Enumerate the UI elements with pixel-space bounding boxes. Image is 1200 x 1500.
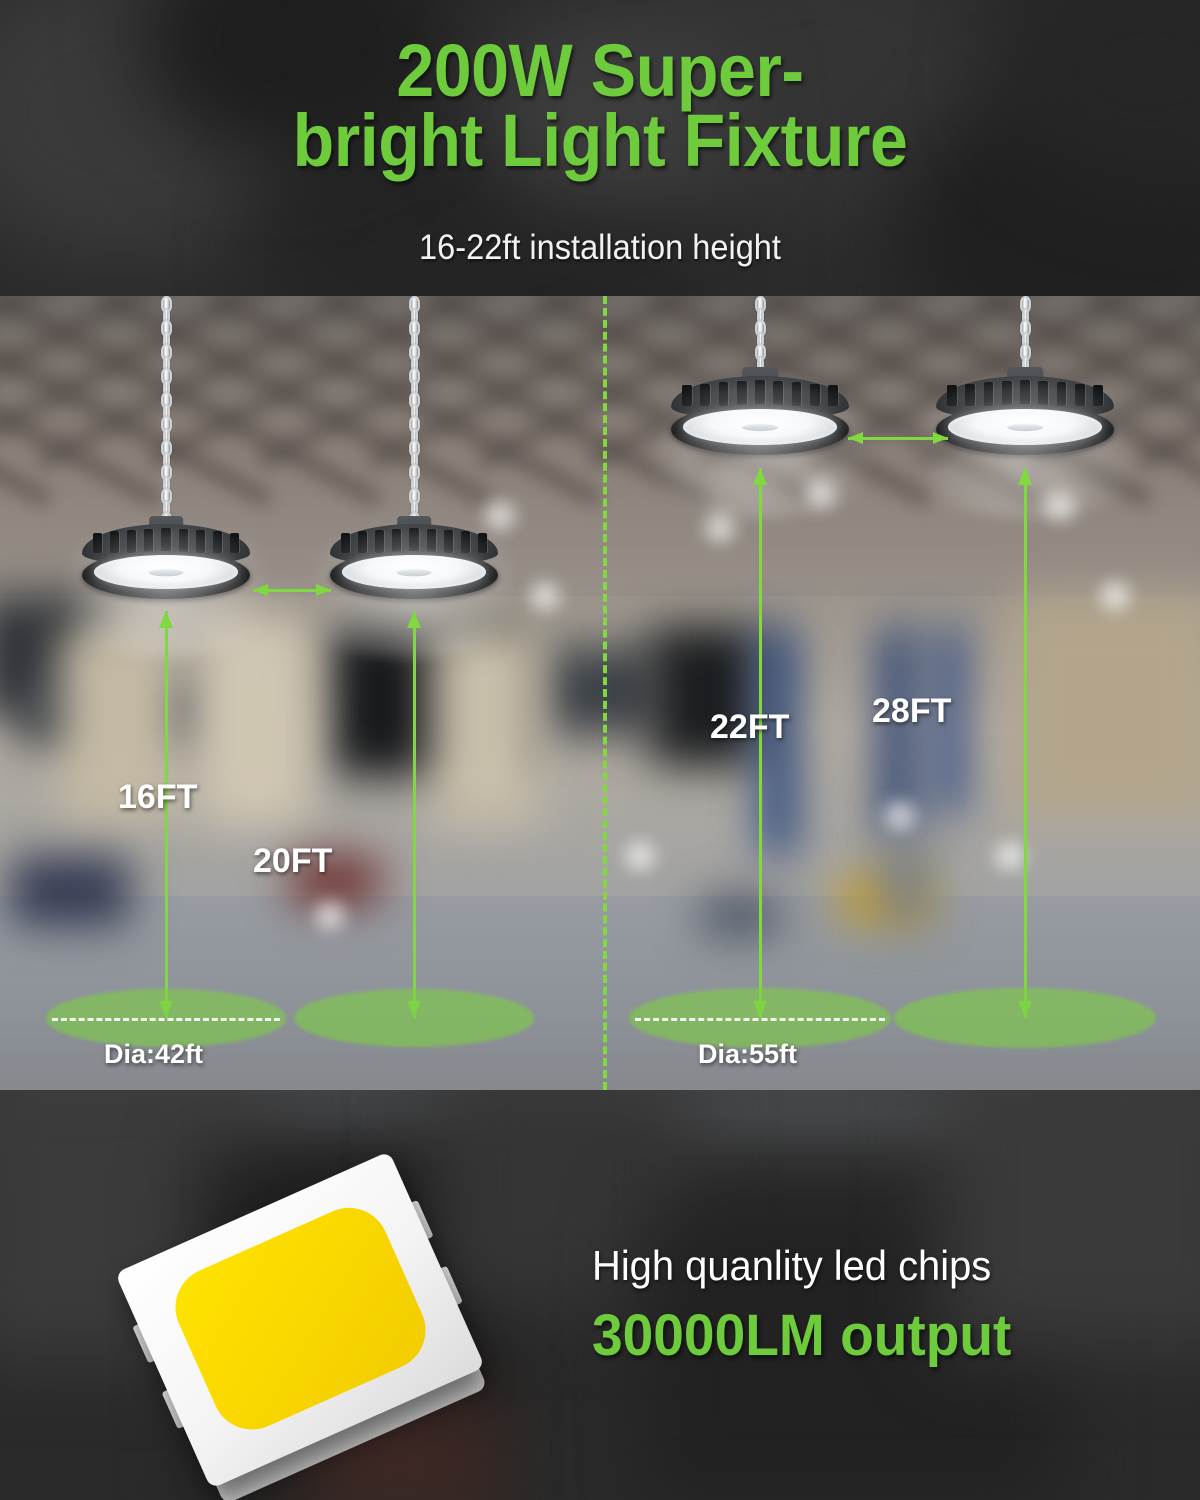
bottom-output-value: 30000LM output <box>592 1302 1011 1369</box>
hanging-chain <box>409 296 420 524</box>
heatsink-fin <box>358 531 367 552</box>
heatsink-fin <box>719 382 729 406</box>
label-right-height: 22FT <box>710 708 789 747</box>
arrow-shaft <box>1024 468 1027 1018</box>
diameter-dashed-line <box>635 1018 885 1021</box>
arrow-head-right <box>316 584 331 596</box>
heatsink-fin <box>792 382 802 406</box>
led-high-bay-fixture <box>82 524 250 625</box>
arrow-head-left <box>253 584 268 596</box>
background-object <box>540 646 660 736</box>
label-right-spacing: 28FT <box>872 692 951 731</box>
panel-divider <box>603 296 607 1090</box>
heatsink-fin <box>700 384 710 407</box>
arrow-head-right <box>933 432 948 444</box>
led-high-bay-fixture <box>330 524 498 625</box>
background-object <box>200 616 310 826</box>
heatsink-fin <box>461 531 470 552</box>
heatsink-fin <box>161 528 170 554</box>
fixture-lens <box>94 555 238 589</box>
heatsink-fin <box>682 385 692 406</box>
heatsink-fin <box>810 384 820 407</box>
background-object <box>880 626 914 836</box>
heatsink-fin <box>444 530 453 553</box>
heatsink-fin <box>755 380 765 407</box>
heatsink-fin <box>110 531 119 552</box>
background-object <box>10 856 130 926</box>
heatsink-fin <box>409 528 418 554</box>
arrow-shaft <box>413 611 416 1018</box>
installation-height-diagram: 20FT 16FT Dia:42ft 28FT 22FT Dia:55ft <box>0 296 1200 1090</box>
arrow-head-up <box>159 611 173 628</box>
label-left-diameter: Dia:42ft <box>104 1039 203 1070</box>
heatsink-fin <box>984 382 994 406</box>
light-pool <box>294 989 534 1047</box>
hanging-chain <box>161 296 172 524</box>
arrow-head-up <box>753 468 767 485</box>
heatsink-fin <box>1057 382 1067 406</box>
heatsink-fin <box>196 530 205 553</box>
fixture-lens <box>683 409 836 445</box>
arrow-head-up <box>407 611 421 628</box>
label-left-spacing: 20FT <box>253 842 332 881</box>
arrow-head-left <box>848 432 863 444</box>
heatsink-fin <box>127 530 136 553</box>
heatsink-fin <box>341 533 350 553</box>
led-chip-section: High quanlity led chips 30000LM output <box>0 1090 1200 1500</box>
fixture-lens <box>948 409 1101 445</box>
label-left-height: 16FT <box>118 778 197 817</box>
heatsink-fin <box>737 381 747 407</box>
heatsink-fin <box>965 384 975 407</box>
background-object <box>1010 596 1200 816</box>
page-subtitle: 16-22ft installation height <box>42 228 1158 268</box>
arrow-head-up <box>1018 468 1032 485</box>
header-banner: 200W Super- bright Light Fixture 16-22ft… <box>0 0 1200 296</box>
background-object <box>700 896 780 936</box>
led-high-bay-fixture <box>671 376 849 483</box>
heatsink-fin <box>427 529 436 553</box>
background-object <box>430 626 540 826</box>
heatsink-fin <box>1093 385 1103 406</box>
heatsink-fin <box>375 530 384 553</box>
fixture-lens <box>342 555 486 589</box>
page-title: 200W Super- bright Light Fixture <box>48 36 1152 177</box>
bottom-headline: High quanlity led chips <box>592 1242 991 1290</box>
heatsink-fin <box>1020 380 1030 407</box>
heatsink-fin <box>230 533 239 553</box>
heatsink-fin <box>1038 381 1048 407</box>
product-infographic: 200W Super- bright Light Fixture 16-22ft… <box>0 0 1200 1500</box>
heatsink-fin <box>1002 381 1012 407</box>
heatsink-fin <box>828 385 838 406</box>
heatsink-fin <box>144 529 153 553</box>
heatsink-fin <box>213 531 222 552</box>
heatsink-fin <box>478 533 487 553</box>
heatsink-fin <box>179 529 188 553</box>
heatsink-fin <box>392 529 401 553</box>
heatsink-fin <box>773 381 783 407</box>
diameter-dashed-line <box>52 1018 280 1021</box>
heatsink-fin <box>947 385 957 406</box>
heatsink-fin <box>1075 384 1085 407</box>
background-object <box>880 836 930 926</box>
led-high-bay-fixture <box>936 376 1114 483</box>
heatsink-fin <box>93 533 102 553</box>
label-right-diameter: Dia:55ft <box>698 1039 797 1070</box>
light-pool <box>894 988 1156 1048</box>
